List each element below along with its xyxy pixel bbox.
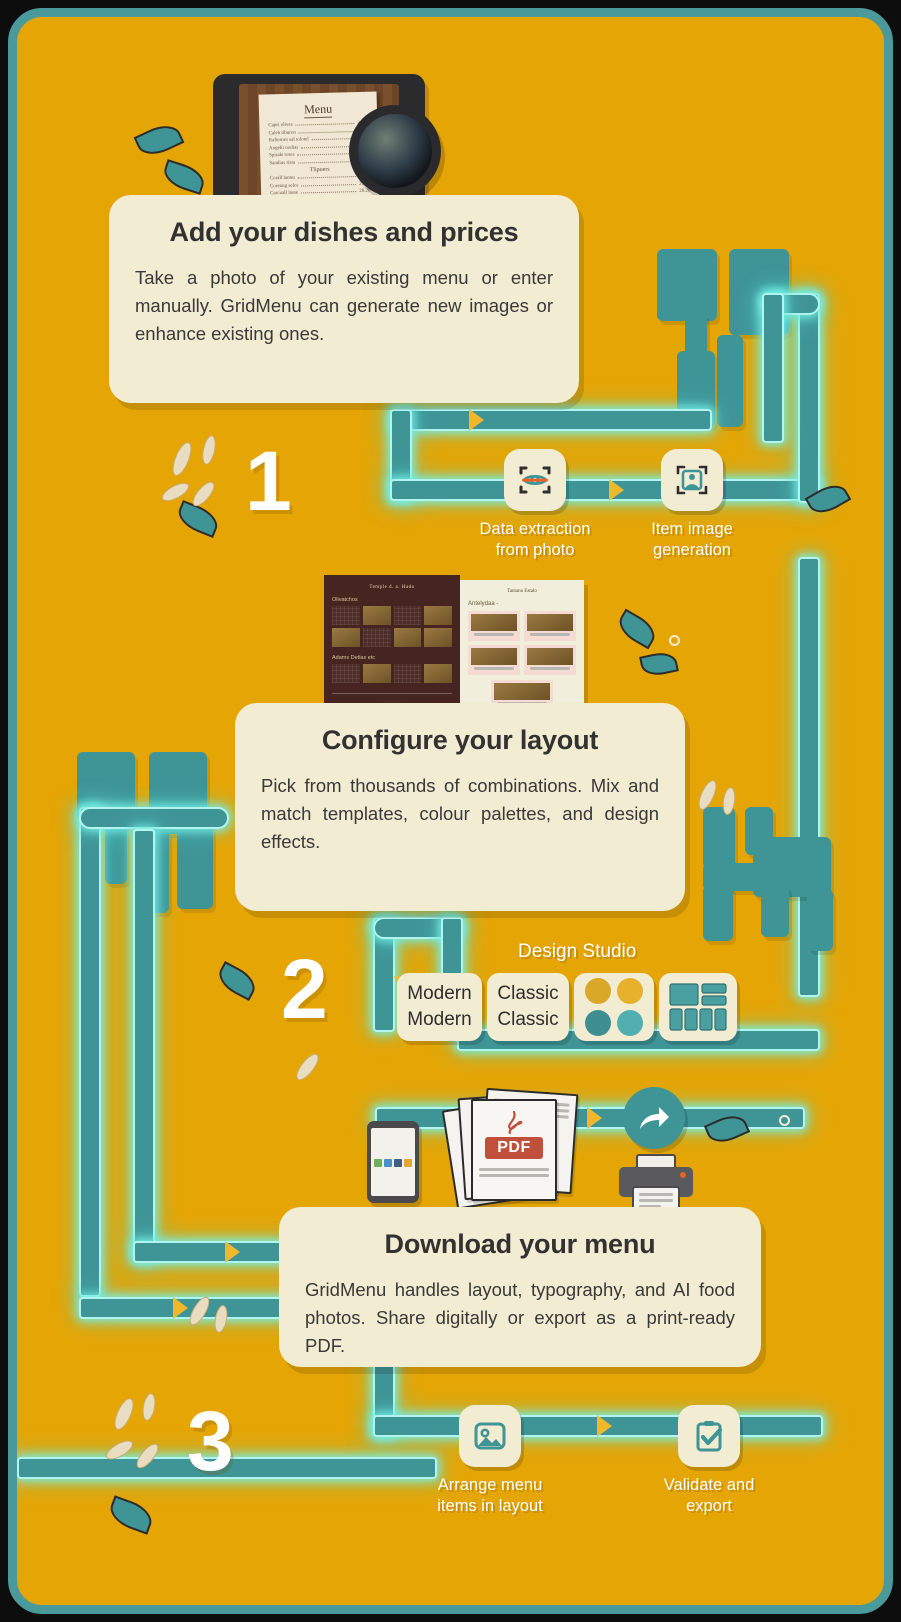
- pipe-segment: [79, 807, 229, 829]
- circuit-block: [177, 817, 213, 909]
- pdf-document-stack: PDF: [449, 1087, 579, 1205]
- circle-decoration: [669, 635, 680, 646]
- flow-arrow: [597, 1415, 612, 1437]
- step-1-body: Take a photo of your existing menu or en…: [135, 264, 553, 348]
- mockup-section: Antelydaa -: [468, 601, 576, 607]
- swatch-3: [585, 1010, 611, 1036]
- menu-item-row: Corenng selos25.00: [270, 181, 370, 189]
- design-studio-card-grid[interactable]: [659, 973, 737, 1041]
- flow-arrow: [225, 1241, 240, 1263]
- menu-item-name: Angelit nodias: [269, 145, 298, 151]
- step-3-card: Download your menu GridMenu handles layo…: [279, 1207, 761, 1367]
- circuit-block: [761, 885, 789, 937]
- menu-item-price: 28.20: [359, 189, 370, 194]
- menu-item-name: Sandius rista: [269, 160, 295, 166]
- feature-item-image-generation[interactable]: Item image generation: [617, 449, 767, 561]
- clipboard-check-icon: [678, 1405, 740, 1467]
- leaf-decoration: [214, 961, 261, 1001]
- feature-label-line1: Validate and: [664, 1476, 755, 1494]
- leaf-decoration: [106, 1495, 156, 1534]
- menu-item-name: Capri olives: [268, 123, 292, 129]
- camera-lens-icon: [349, 105, 441, 197]
- mockup-section: Adams Detlas etc: [332, 655, 452, 661]
- photo-picture-icon: [459, 1405, 521, 1467]
- step-2-card: Configure your layout Pick from thousand…: [235, 703, 685, 911]
- flow-arrow: [469, 409, 484, 431]
- pipe-segment: [133, 829, 155, 1261]
- circuit-block: [703, 885, 733, 941]
- mockup-brand: Tantano Estalo: [468, 589, 576, 594]
- layout-grid-icon: [669, 983, 727, 1031]
- mobile-phone-icon: [367, 1121, 419, 1203]
- mockup-section: Olivatchos: [332, 597, 452, 603]
- menu-item-row: Capri olives31.80: [268, 121, 368, 129]
- pipe-segment: [392, 409, 712, 431]
- feature-label-line2: export: [686, 1497, 732, 1515]
- step-3-body: GridMenu handles layout, typography, and…: [305, 1276, 735, 1360]
- menu-item-name: Rafiernes sal tolotel: [268, 138, 308, 144]
- step-2-title: Configure your layout: [261, 725, 659, 756]
- step-3-number: 3: [187, 1399, 234, 1483]
- menu-item-name: Corall lantes: [269, 176, 295, 182]
- leaf-decoration: [614, 609, 661, 650]
- step-1-card: Add your dishes and prices Take a photo …: [109, 195, 579, 403]
- leaf-decoration: [134, 119, 185, 161]
- feature-arrange-menu-items[interactable]: Arrange menu items in layout: [415, 1405, 565, 1517]
- flow-arrow: [587, 1107, 602, 1129]
- feature-data-extraction[interactable]: Data extraction from photo: [460, 449, 610, 561]
- seed-decoration: [111, 1396, 138, 1433]
- circle-decoration: [779, 1115, 790, 1126]
- scan-eye-icon: [504, 449, 566, 511]
- swatch-2: [617, 978, 643, 1004]
- leaf-decoration: [160, 159, 207, 195]
- design-studio-card-classic[interactable]: Classic Classic: [487, 973, 569, 1041]
- menu-heading: Menu: [304, 102, 332, 119]
- step-1-title: Add your dishes and prices: [135, 217, 553, 248]
- card-line-2: Classic: [497, 1007, 558, 1033]
- card-line-2: Modern: [407, 1007, 471, 1033]
- feature-label-line1: Arrange menu: [438, 1476, 543, 1494]
- menu-item-name: Spirale toses: [269, 153, 295, 159]
- circuit-block: [657, 249, 717, 321]
- printer-icon: [615, 1153, 697, 1215]
- pdf-logo-icon: [501, 1109, 527, 1135]
- share-arrow-icon[interactable]: [623, 1087, 685, 1149]
- swatch-1: [585, 978, 611, 1004]
- feature-label-line1: Item image: [651, 520, 733, 538]
- step-2-number: 2: [281, 947, 328, 1031]
- mockup-brand: Temple d. a. Hado: [332, 585, 452, 590]
- pdf-badge: PDF: [485, 1137, 543, 1159]
- circuit-block: [807, 889, 833, 951]
- flow-arrow: [173, 1297, 188, 1319]
- feature-label-line2: generation: [653, 541, 731, 559]
- design-studio-title: Design Studio: [518, 941, 636, 963]
- leaf-decoration: [639, 649, 679, 678]
- image-frame-icon: [661, 449, 723, 511]
- feature-label-line2: items in layout: [437, 1497, 542, 1515]
- feature-label-line1: Data extraction: [480, 520, 591, 538]
- seed-decoration: [189, 478, 218, 509]
- circuit-block: [703, 807, 735, 869]
- menu-item-name: Corenng selos: [270, 183, 299, 189]
- swatch-4: [617, 1010, 643, 1036]
- feature-label-line2: from photo: [496, 541, 575, 559]
- circuit-block: [717, 335, 743, 427]
- card-line-1: Modern: [407, 981, 471, 1007]
- seed-decoration: [169, 440, 195, 479]
- design-studio-card-palette[interactable]: [574, 973, 654, 1041]
- seed-decoration: [200, 434, 218, 466]
- pipe-segment: [798, 293, 820, 503]
- menu-item-name: Caleb tiburon: [268, 130, 295, 136]
- card-line-1: Classic: [497, 981, 558, 1007]
- seed-decoration: [293, 1050, 323, 1083]
- seed-decoration: [141, 1392, 158, 1422]
- pipe-segment: [79, 807, 101, 1297]
- step-1-number: 1: [245, 439, 292, 523]
- step-3-title: Download your menu: [305, 1229, 735, 1260]
- design-studio-card-modern[interactable]: Modern Modern: [397, 973, 482, 1041]
- pipe-segment: [762, 293, 784, 443]
- step-2-body: Pick from thousands of combinations. Mix…: [261, 772, 659, 856]
- feature-validate-and-export[interactable]: Validate and export: [634, 1405, 784, 1517]
- infographic-poster: Menu Capri olives31.80Caleb tiburon1.60R…: [8, 8, 893, 1614]
